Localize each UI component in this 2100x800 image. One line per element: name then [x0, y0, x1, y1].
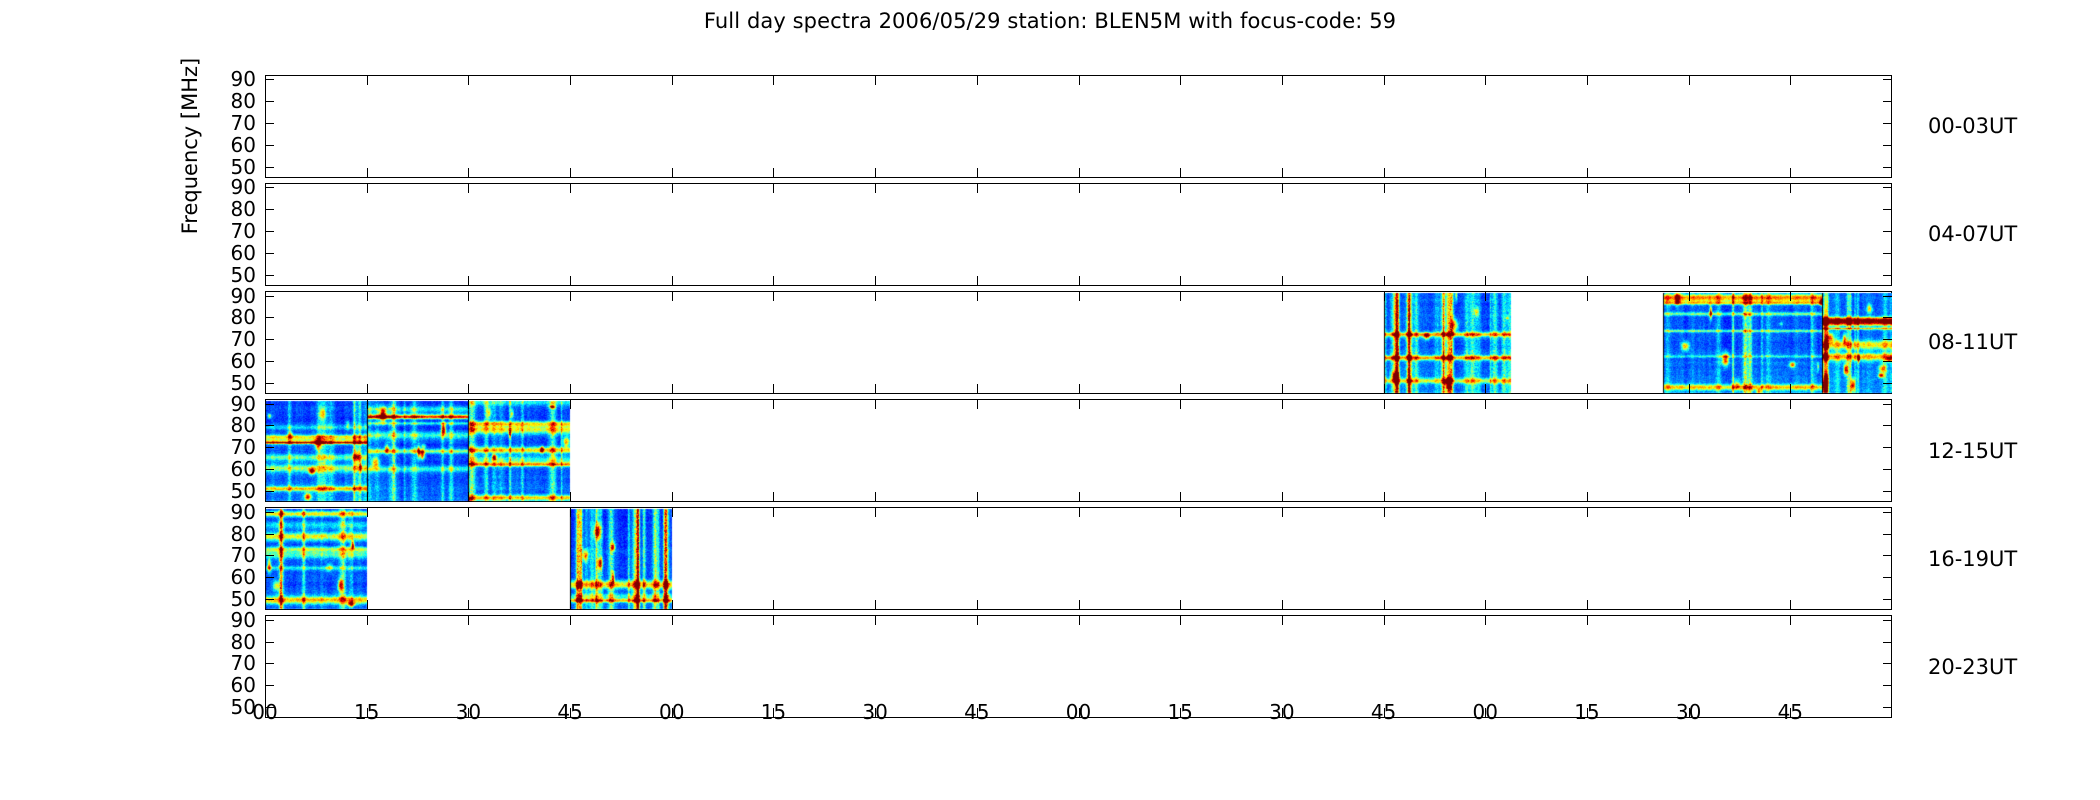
- y-axis-tick-right: [1883, 231, 1892, 232]
- x-axis-tick-top: [1485, 507, 1486, 517]
- x-axis-tick-top: [468, 615, 469, 625]
- panel-row-label: 12-15UT: [1928, 439, 2017, 463]
- y-axis-tick-right: [1883, 167, 1892, 168]
- y-axis-tick: [265, 577, 274, 578]
- x-axis-tick-bottom: [1485, 600, 1486, 610]
- y-axis-tick: [265, 534, 274, 535]
- y-axis-tick-label: 80: [186, 524, 256, 544]
- y-axis-tick-label: 50: [186, 481, 256, 501]
- y-axis-tick-right: [1883, 317, 1892, 318]
- x-axis-tick-top: [1180, 615, 1181, 625]
- x-axis-tick-top: [367, 615, 368, 625]
- x-axis-tick-bottom: [1790, 168, 1791, 178]
- x-axis-tick-bottom: [367, 168, 368, 178]
- y-axis-tick: [265, 642, 274, 643]
- y-axis-tick: [265, 447, 274, 448]
- x-axis-tick-top: [1079, 291, 1080, 301]
- y-axis-tick-right: [1883, 577, 1892, 578]
- x-axis-tick-bottom: [1587, 276, 1588, 286]
- y-axis-tick: [265, 187, 274, 188]
- x-axis-tick-bottom: [1384, 600, 1385, 610]
- x-axis-tick-bottom: [1079, 384, 1080, 394]
- y-axis-tick-label: 70: [186, 329, 256, 349]
- x-axis-tick-top: [1485, 615, 1486, 625]
- x-axis-tick-bottom: [1485, 384, 1486, 394]
- y-axis-tick-label: 50: [186, 373, 256, 393]
- x-axis-tick-label: 45: [1778, 702, 1803, 722]
- x-axis-tick-bottom: [1180, 168, 1181, 178]
- spectrogram-figure: Full day spectra 2006/05/29 station: BLE…: [0, 0, 2100, 800]
- y-axis-tick-right: [1883, 123, 1892, 124]
- x-axis-tick-bottom: [1384, 384, 1385, 394]
- panel-row-00-03ut: 908070605000-03UT: [265, 75, 1892, 178]
- x-axis-tick-bottom: [1282, 276, 1283, 286]
- x-axis-tick-top: [1282, 399, 1283, 409]
- x-axis-tick-top: [1180, 291, 1181, 301]
- x-axis-tick-bottom: [367, 384, 368, 394]
- x-axis-tick-bottom: [1485, 276, 1486, 286]
- x-axis-tick-bottom: [1384, 276, 1385, 286]
- y-axis-tick: [265, 620, 274, 621]
- x-axis-tick-bottom: [1079, 492, 1080, 502]
- y-axis-tick: [265, 317, 274, 318]
- x-axis-tick-bottom: [1790, 384, 1791, 394]
- x-axis-tick-top: [570, 183, 571, 193]
- x-axis-tick-bottom: [1587, 492, 1588, 502]
- panel-row-label: 16-19UT: [1928, 547, 2017, 571]
- x-axis-tick-bottom: [1689, 600, 1690, 610]
- x-axis-tick-bottom: [672, 384, 673, 394]
- x-axis-tick-top: [1485, 399, 1486, 409]
- x-axis-tick-top: [1282, 183, 1283, 193]
- x-axis-tick-bottom: [875, 168, 876, 178]
- x-axis-tick-label: 30: [1269, 702, 1294, 722]
- x-axis-tick-bottom: [875, 276, 876, 286]
- y-axis-tick-label: 60: [186, 459, 256, 479]
- x-axis-tick-bottom: [468, 492, 469, 502]
- x-axis-tick-bottom: [773, 600, 774, 610]
- x-axis-tick-bottom: [773, 384, 774, 394]
- x-axis-tick-top: [1689, 183, 1690, 193]
- x-axis-tick-top: [875, 507, 876, 517]
- y-axis-tick: [265, 101, 274, 102]
- x-axis-tick-top: [672, 75, 673, 85]
- x-axis-tick-top: [1384, 75, 1385, 85]
- y-axis-tick-label: 80: [186, 632, 256, 652]
- y-axis-tick: [265, 555, 274, 556]
- x-axis-tick-top: [875, 291, 876, 301]
- x-axis-tick-top: [468, 75, 469, 85]
- y-axis-tick-label: 60: [186, 243, 256, 263]
- x-axis-tick-bottom: [1485, 168, 1486, 178]
- y-axis-tick-label: 70: [186, 437, 256, 457]
- x-axis-tick-top: [1079, 507, 1080, 517]
- y-axis-tick-right: [1883, 620, 1892, 621]
- y-axis-tick-right: [1883, 404, 1892, 405]
- x-axis-tick-bottom: [773, 492, 774, 502]
- x-axis-tick-label: 45: [964, 702, 989, 722]
- x-axis-tick-bottom: [1282, 168, 1283, 178]
- x-axis-tick-top: [468, 507, 469, 517]
- x-axis-tick-label: 00: [1066, 702, 1091, 722]
- x-axis-tick-bottom: [875, 600, 876, 610]
- x-axis-tick-bottom: [1079, 168, 1080, 178]
- y-axis-tick: [265, 253, 274, 254]
- x-axis-tick-bottom: [1282, 600, 1283, 610]
- x-axis-tick-top: [1282, 507, 1283, 517]
- y-axis-tick-right: [1883, 101, 1892, 102]
- x-axis-tick-top: [1079, 615, 1080, 625]
- x-axis-tick-bottom: [875, 492, 876, 502]
- panel-row-04-07ut: 908070605004-07UT: [265, 183, 1892, 286]
- x-axis-tick-top: [468, 399, 469, 409]
- y-axis-tick: [265, 404, 274, 405]
- x-axis-tick-top: [875, 399, 876, 409]
- x-axis-tick-top: [1790, 615, 1791, 625]
- x-axis-tick-top: [1587, 507, 1588, 517]
- x-axis-tick-label: 00: [659, 702, 684, 722]
- x-axis-tick-bottom: [672, 276, 673, 286]
- x-axis-tick-top: [367, 291, 368, 301]
- x-axis-tick-top: [672, 615, 673, 625]
- y-axis-tick-label: 50: [186, 589, 256, 609]
- x-axis-tick-top: [977, 291, 978, 301]
- x-axis-tick-top: [773, 507, 774, 517]
- x-axis-tick-top: [1689, 507, 1690, 517]
- y-axis-tick-right: [1883, 253, 1892, 254]
- panel-row-label: 00-03UT: [1928, 114, 2017, 138]
- x-axis-tick-label: 30: [1676, 702, 1701, 722]
- x-axis-tick-top: [1282, 615, 1283, 625]
- x-axis-tick-bottom: [468, 276, 469, 286]
- x-axis-tick-top: [1282, 75, 1283, 85]
- y-axis-tick: [265, 145, 274, 146]
- x-axis-tick-label: 15: [1574, 702, 1599, 722]
- y-axis-tick-label: 70: [186, 653, 256, 673]
- x-axis-tick-label: 30: [862, 702, 887, 722]
- x-axis-tick-bottom: [672, 168, 673, 178]
- y-axis-tick-right: [1883, 555, 1892, 556]
- y-axis-tick-right: [1883, 512, 1892, 513]
- y-axis-tick: [265, 599, 274, 600]
- y-axis-tick: [265, 663, 274, 664]
- x-axis-tick-top: [570, 75, 571, 85]
- y-axis-tick-label: 80: [186, 415, 256, 435]
- y-axis-tick-right: [1883, 642, 1892, 643]
- x-axis-tick-top: [875, 615, 876, 625]
- x-axis-tick-top: [1689, 615, 1690, 625]
- y-axis-tick-right: [1883, 491, 1892, 492]
- x-axis-tick-top: [773, 399, 774, 409]
- x-axis-tick-bottom: [468, 384, 469, 394]
- y-axis-tick-right: [1883, 383, 1892, 384]
- panel-row-16-19ut: 908070605016-19UT: [265, 507, 1892, 610]
- y-axis-tick-label: 60: [186, 675, 256, 695]
- x-axis-tick-bottom: [977, 276, 978, 286]
- x-axis-tick-top: [1384, 399, 1385, 409]
- x-axis-tick-bottom: [468, 600, 469, 610]
- x-axis-tick-bottom: [570, 492, 571, 502]
- x-axis-tick-top: [773, 615, 774, 625]
- y-axis-tick: [265, 79, 274, 80]
- x-axis-tick-top: [1384, 183, 1385, 193]
- spectrogram-canvas: [265, 183, 1892, 286]
- panel-row-label: 04-07UT: [1928, 222, 2017, 246]
- x-axis-tick-top: [672, 291, 673, 301]
- y-axis-tick-right: [1883, 534, 1892, 535]
- x-axis-tick-bottom: [773, 168, 774, 178]
- y-axis-tick: [265, 469, 274, 470]
- x-axis-tick-bottom: [1587, 600, 1588, 610]
- x-axis-tick-bottom: [1689, 384, 1690, 394]
- x-axis-tick-top: [1079, 75, 1080, 85]
- spectrogram-canvas: [265, 399, 1892, 502]
- spectrogram-canvas: [265, 291, 1892, 394]
- y-axis-tick: [265, 685, 274, 686]
- y-axis-tick-label: 70: [186, 545, 256, 565]
- x-axis-tick-bottom: [1180, 492, 1181, 502]
- y-axis-tick-label: 90: [186, 177, 256, 197]
- x-axis-tick-bottom: [1587, 168, 1588, 178]
- x-axis-tick-bottom: [1790, 600, 1791, 610]
- y-axis-tick: [265, 361, 274, 362]
- x-axis-tick-top: [1180, 183, 1181, 193]
- x-axis-tick-label: 15: [354, 702, 379, 722]
- x-axis-tick-top: [1689, 291, 1690, 301]
- x-axis-tick-top: [1485, 183, 1486, 193]
- x-axis-tick-label: 15: [761, 702, 786, 722]
- x-axis-tick-top: [1180, 507, 1181, 517]
- x-axis-tick-top: [570, 507, 571, 517]
- x-axis-tick-bottom: [1384, 168, 1385, 178]
- y-axis-tick-label: 90: [186, 394, 256, 414]
- x-axis-tick-top: [977, 615, 978, 625]
- x-axis-tick-bottom: [977, 600, 978, 610]
- x-axis-tick-bottom: [367, 492, 368, 502]
- x-axis-tick-bottom: [570, 384, 571, 394]
- y-axis-tick-label: 70: [186, 113, 256, 133]
- x-axis-tick-top: [1180, 399, 1181, 409]
- x-axis-tick-top: [1689, 399, 1690, 409]
- x-axis-tick-bottom: [1790, 492, 1791, 502]
- x-axis-tick-top: [367, 399, 368, 409]
- x-axis-tick-bottom: [1689, 492, 1690, 502]
- x-axis-tick-top: [1790, 183, 1791, 193]
- y-axis-tick-right: [1883, 187, 1892, 188]
- x-axis-tick-top: [1790, 291, 1791, 301]
- y-axis-tick-label: 90: [186, 502, 256, 522]
- x-axis-tick-top: [1587, 75, 1588, 85]
- x-axis-tick-label: 15: [1167, 702, 1192, 722]
- y-axis-tick: [265, 123, 274, 124]
- y-axis-tick-label: 90: [186, 610, 256, 630]
- y-axis-tick: [265, 425, 274, 426]
- x-axis-tick-top: [367, 75, 368, 85]
- x-axis-tick-top: [672, 183, 673, 193]
- x-axis-tick-bottom: [1180, 276, 1181, 286]
- panel-row-12-15ut: 908070605012-15UT: [265, 399, 1892, 502]
- x-axis-tick-bottom: [1282, 492, 1283, 502]
- x-axis-tick-top: [1180, 75, 1181, 85]
- y-axis-tick-label: 60: [186, 351, 256, 371]
- x-axis-tick-bottom: [977, 384, 978, 394]
- x-axis-tick-top: [468, 291, 469, 301]
- x-axis-tick-bottom: [977, 168, 978, 178]
- y-axis-tick: [265, 491, 274, 492]
- y-axis-tick-label: 90: [186, 69, 256, 89]
- y-axis-tick-right: [1883, 209, 1892, 210]
- x-axis-tick-top: [1079, 183, 1080, 193]
- x-axis-tick-bottom: [672, 492, 673, 502]
- x-axis-tick-label: 00: [1473, 702, 1498, 722]
- y-axis-tick: [265, 339, 274, 340]
- y-axis-tick: [265, 209, 274, 210]
- x-axis-tick-bottom: [1587, 384, 1588, 394]
- x-axis-tick-top: [1587, 183, 1588, 193]
- x-axis-tick-bottom: [875, 384, 876, 394]
- x-axis-tick-top: [468, 183, 469, 193]
- x-axis-tick-top: [1587, 615, 1588, 625]
- x-axis-tick-bottom: [672, 600, 673, 610]
- x-axis-tick-bottom: [977, 492, 978, 502]
- y-axis-tick: [265, 275, 274, 276]
- x-axis-tick-top: [875, 183, 876, 193]
- x-axis-tick-top: [1587, 291, 1588, 301]
- y-axis-tick: [265, 512, 274, 513]
- x-axis-tick-label: 45: [557, 702, 582, 722]
- x-axis-tick-top: [773, 75, 774, 85]
- x-axis-tick-top: [1079, 399, 1080, 409]
- x-axis-tick-bottom: [367, 600, 368, 610]
- x-axis-tick-top: [570, 399, 571, 409]
- x-axis-tick-top: [1689, 75, 1690, 85]
- x-axis-tick-top: [773, 183, 774, 193]
- x-axis-tick-top: [1790, 507, 1791, 517]
- y-axis-tick-label: 80: [186, 307, 256, 327]
- x-axis-tick-top: [875, 75, 876, 85]
- x-axis-tick-bottom: [1689, 168, 1690, 178]
- x-axis-tick-bottom: [367, 276, 368, 286]
- x-axis-tick-label: 30: [456, 702, 481, 722]
- y-axis-tick-right: [1883, 275, 1892, 276]
- y-axis-tick-label: 80: [186, 199, 256, 219]
- y-axis-tick-right: [1883, 663, 1892, 664]
- x-axis-tick-bottom: [1485, 492, 1486, 502]
- x-axis-tick-bottom: [570, 276, 571, 286]
- x-axis-tick-top: [367, 507, 368, 517]
- x-axis-tick-label: 45: [1371, 702, 1396, 722]
- y-axis-tick-right: [1883, 447, 1892, 448]
- x-axis-tick-bottom: [570, 168, 571, 178]
- y-axis-tick-right: [1883, 296, 1892, 297]
- x-axis-tick-top: [773, 291, 774, 301]
- y-axis-tick-label: 60: [186, 567, 256, 587]
- x-axis-tick-top: [570, 291, 571, 301]
- y-axis-tick-label: 50: [186, 265, 256, 285]
- y-axis-tick-right: [1883, 685, 1892, 686]
- x-axis-tick-top: [977, 75, 978, 85]
- x-axis-tick-bottom: [468, 168, 469, 178]
- x-axis-tick-bottom: [1790, 276, 1791, 286]
- panel-row-label: 20-23UT: [1928, 655, 2017, 679]
- x-axis-tick-top: [1485, 75, 1486, 85]
- x-axis-tick-top: [672, 399, 673, 409]
- y-axis-tick-label: 50: [186, 697, 256, 717]
- x-axis-tick-top: [977, 183, 978, 193]
- spectrogram-canvas: [265, 75, 1892, 178]
- x-axis-tick-label: 00: [252, 702, 277, 722]
- x-axis-tick-top: [1384, 615, 1385, 625]
- x-axis-tick-labels: 00153045001530450015304500153045: [265, 702, 1892, 726]
- x-axis-tick-top: [977, 507, 978, 517]
- y-axis-tick-label: 50: [186, 157, 256, 177]
- x-axis-tick-top: [1790, 399, 1791, 409]
- x-axis-tick-top: [1282, 291, 1283, 301]
- x-axis-tick-top: [1587, 399, 1588, 409]
- y-axis-tick: [265, 383, 274, 384]
- x-axis-tick-top: [1384, 291, 1385, 301]
- x-axis-tick-top: [1485, 291, 1486, 301]
- y-axis-tick: [265, 167, 274, 168]
- x-axis-tick-bottom: [1689, 276, 1690, 286]
- x-axis-tick-top: [570, 615, 571, 625]
- y-axis-tick-right: [1883, 599, 1892, 600]
- y-axis-tick-label: 80: [186, 91, 256, 111]
- x-axis-tick-bottom: [1282, 384, 1283, 394]
- x-axis-tick-bottom: [1079, 600, 1080, 610]
- x-axis-tick-bottom: [1384, 492, 1385, 502]
- x-axis-tick-bottom: [1180, 600, 1181, 610]
- y-axis-tick-right: [1883, 79, 1892, 80]
- y-axis-tick-label: 70: [186, 221, 256, 241]
- panel-row-08-11ut: 908070605008-11UT: [265, 291, 1892, 394]
- y-axis-tick-label: 90: [186, 286, 256, 306]
- y-axis-tick-right: [1883, 469, 1892, 470]
- y-axis-tick: [265, 231, 274, 232]
- x-axis-tick-bottom: [570, 600, 571, 610]
- x-axis-tick-top: [672, 507, 673, 517]
- y-axis-tick-right: [1883, 339, 1892, 340]
- x-axis-tick-top: [367, 183, 368, 193]
- spectrogram-canvas: [265, 507, 1892, 610]
- y-axis-tick-right: [1883, 145, 1892, 146]
- x-axis-tick-top: [977, 399, 978, 409]
- x-axis-tick-bottom: [1079, 276, 1080, 286]
- y-axis-tick-right: [1883, 425, 1892, 426]
- y-axis-tick-label: 60: [186, 135, 256, 155]
- x-axis-tick-bottom: [1180, 384, 1181, 394]
- y-axis-tick: [265, 296, 274, 297]
- y-axis-tick-right: [1883, 361, 1892, 362]
- panel-row-label: 08-11UT: [1928, 330, 2017, 354]
- figure-title: Full day spectra 2006/05/29 station: BLE…: [0, 9, 2100, 33]
- x-axis-tick-top: [1384, 507, 1385, 517]
- x-axis-tick-top: [1790, 75, 1791, 85]
- x-axis-tick-bottom: [773, 276, 774, 286]
